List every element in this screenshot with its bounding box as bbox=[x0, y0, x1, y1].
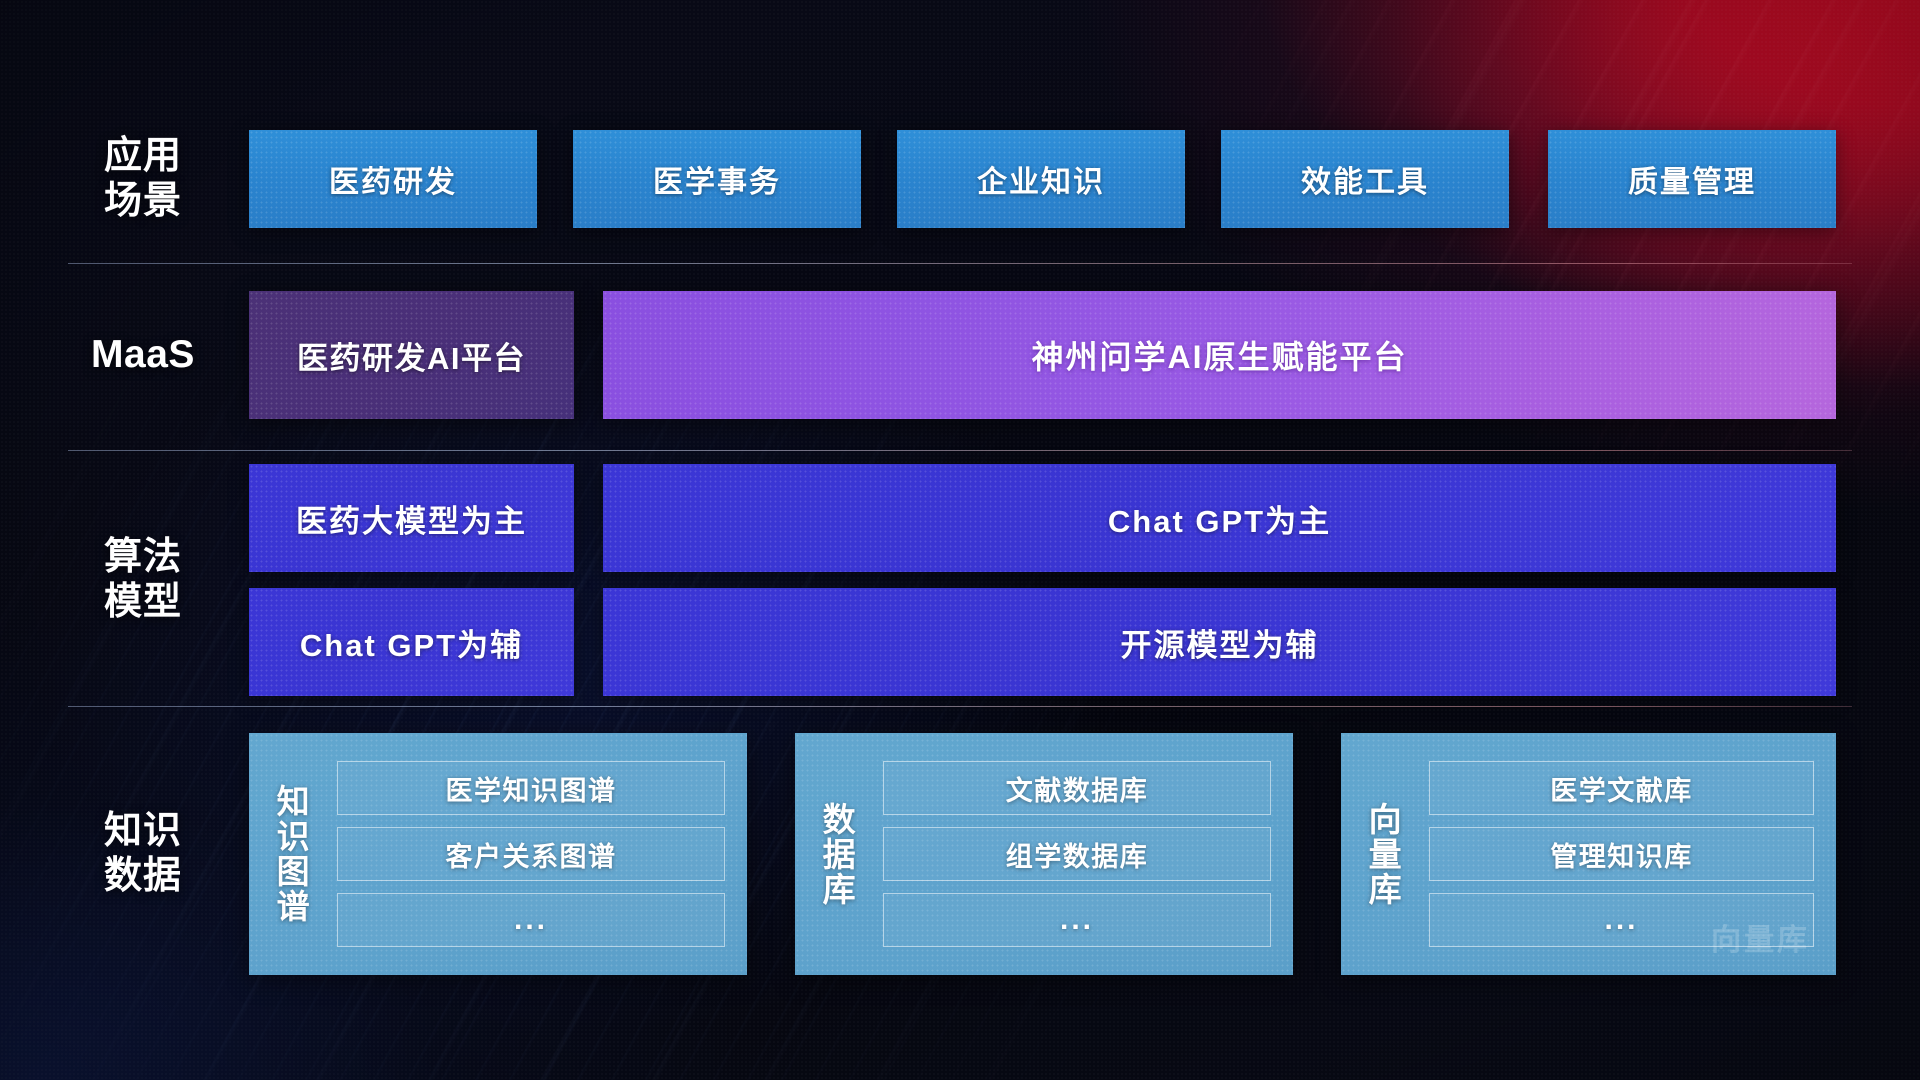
row-knowledge-data: 知识 数据 知识图谱 医学知识图谱 客户关系图谱 ... bbox=[0, 733, 1920, 975]
maas-platform-box-pharma[interactable]: 医药研发AI平台 bbox=[249, 291, 574, 419]
scenario-box-3[interactable]: 企业知识 bbox=[897, 130, 1185, 228]
knowledge-item-medical-literature[interactable]: 医学文献库 bbox=[1429, 761, 1814, 815]
knowledge-item-literature-db[interactable]: 文献数据库 bbox=[883, 761, 1271, 815]
knowledge-panel-vector[interactable]: 向量库 医学文献库 管理知识库 ... 向量库 bbox=[1341, 733, 1836, 975]
row-label-maas: MaaS bbox=[68, 291, 218, 419]
scenario-box-4-label: 效能工具 bbox=[1301, 157, 1429, 201]
slide-canvas: 应用 场景 医药研发 医学事务 企业知识 效能工具 质量管理 bbox=[0, 0, 1920, 1080]
algo-box-opensource-secondary[interactable]: 开源模型为辅 bbox=[603, 588, 1836, 696]
algo-box-chatgpt-primary[interactable]: Chat GPT为主 bbox=[603, 464, 1836, 572]
row-label-application-scenario: 应用 场景 bbox=[68, 130, 218, 228]
row-label-line-1: 算法 bbox=[104, 535, 182, 580]
row-label-line-2: 模型 bbox=[104, 580, 182, 625]
knowledge-panel-database[interactable]: 数据库 文献数据库 组学数据库 ... bbox=[795, 733, 1293, 975]
knowledge-panel-graph-label: 知识图谱 bbox=[249, 733, 331, 975]
knowledge-item-vector-more[interactable]: ... bbox=[1429, 893, 1814, 947]
knowledge-panel-graph-items: 医学知识图谱 客户关系图谱 ... bbox=[331, 733, 747, 975]
scenario-box-2[interactable]: 医学事务 bbox=[573, 130, 861, 228]
maas-platform-box-shenzhou[interactable]: 神州问学AI原生赋能平台 bbox=[603, 291, 1836, 419]
knowledge-item-customer-graph[interactable]: 客户关系图谱 bbox=[337, 827, 725, 881]
row-label-line-2: 场景 bbox=[104, 179, 182, 224]
algo-box-chatgpt-secondary-label: Chat GPT为辅 bbox=[300, 620, 523, 665]
knowledge-panel-database-items: 文献数据库 组学数据库 ... bbox=[877, 733, 1293, 975]
scenario-box-5[interactable]: 质量管理 bbox=[1548, 130, 1836, 228]
knowledge-panel-database-label: 数据库 bbox=[795, 733, 877, 975]
knowledge-panel-vector-label: 向量库 bbox=[1341, 733, 1423, 975]
scenario-box-5-label: 质量管理 bbox=[1628, 157, 1756, 201]
divider-1 bbox=[68, 263, 1852, 264]
architecture-diagram: 应用 场景 医药研发 医学事务 企业知识 效能工具 质量管理 bbox=[0, 0, 1920, 1080]
knowledge-item-omics-db[interactable]: 组学数据库 bbox=[883, 827, 1271, 881]
knowledge-item-database-more[interactable]: ... bbox=[883, 893, 1271, 947]
row-label-knowledge-data: 知识 数据 bbox=[68, 733, 218, 975]
algo-box-pharma-llm-primary-label: 医药大模型为主 bbox=[296, 496, 527, 541]
algo-box-pharma-llm-primary[interactable]: 医药大模型为主 bbox=[249, 464, 574, 572]
row-label-line-2: 数据 bbox=[104, 854, 182, 899]
knowledge-item-graph-more[interactable]: ... bbox=[337, 893, 725, 947]
maas-platform-box-shenzhou-label: 神州问学AI原生赋能平台 bbox=[1031, 332, 1407, 378]
knowledge-panel-graph[interactable]: 知识图谱 医学知识图谱 客户关系图谱 ... bbox=[249, 733, 747, 975]
row-label-algorithm-model: 算法 模型 bbox=[68, 464, 218, 696]
algo-box-chatgpt-primary-label: Chat GPT为主 bbox=[1108, 496, 1331, 541]
row-label-line-1: 应用 bbox=[104, 134, 182, 179]
divider-2 bbox=[68, 450, 1852, 451]
algo-box-chatgpt-secondary[interactable]: Chat GPT为辅 bbox=[249, 588, 574, 696]
row-algorithm-model: 算法 模型 医药大模型为主 Chat GPT为主 Chat GPT为辅 开源模型… bbox=[0, 464, 1920, 696]
scenario-box-4[interactable]: 效能工具 bbox=[1221, 130, 1509, 228]
algo-box-opensource-secondary-label: 开源模型为辅 bbox=[1121, 620, 1319, 665]
knowledge-item-management-knowledge[interactable]: 管理知识库 bbox=[1429, 827, 1814, 881]
divider-3 bbox=[68, 706, 1852, 707]
row-maas: MaaS 医药研发AI平台 神州问学AI原生赋能平台 bbox=[0, 291, 1920, 419]
knowledge-panel-vector-items: 医学文献库 管理知识库 ... bbox=[1423, 733, 1836, 975]
maas-platform-box-pharma-label: 医药研发AI平台 bbox=[297, 333, 526, 378]
row-application-scenario: 应用 场景 医药研发 医学事务 企业知识 效能工具 质量管理 bbox=[0, 130, 1920, 228]
scenario-box-1[interactable]: 医药研发 bbox=[249, 130, 537, 228]
scenario-box-3-label: 企业知识 bbox=[977, 157, 1105, 201]
scenario-box-1-label: 医药研发 bbox=[329, 157, 457, 201]
knowledge-item-medical-graph[interactable]: 医学知识图谱 bbox=[337, 761, 725, 815]
scenario-box-2-label: 医学事务 bbox=[653, 157, 781, 201]
row-label-line-1: 知识 bbox=[104, 809, 182, 854]
